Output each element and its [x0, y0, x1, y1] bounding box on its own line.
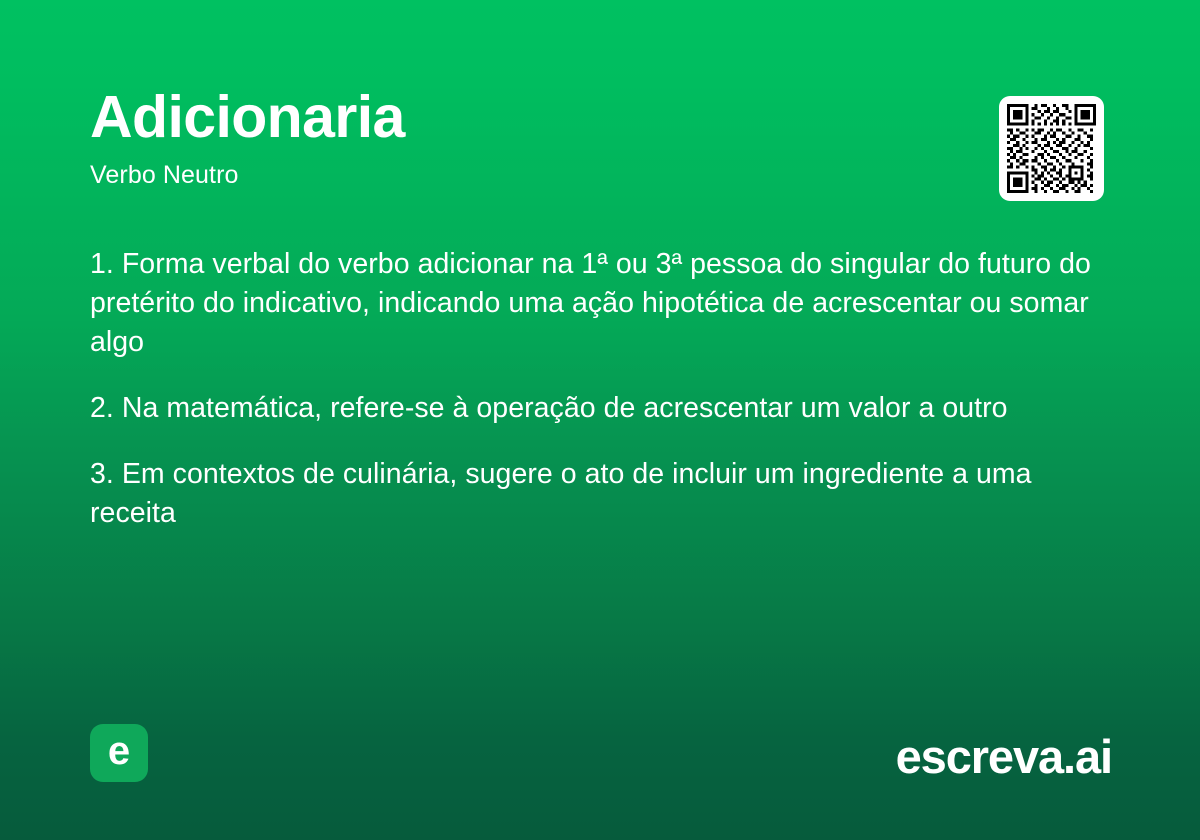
word-class-label: Verbo Neutro [90, 160, 970, 190]
qr-code-icon[interactable] [999, 96, 1104, 201]
definition-card: Adicionaria Verbo Neutro [0, 0, 1200, 840]
definition-list: 1. Forma verbal do verbo adicionar na 1ª… [90, 245, 1110, 533]
logo-letter: e [108, 731, 130, 771]
card-header: Adicionaria Verbo Neutro [90, 86, 970, 190]
brand-wordmark: escreva.ai [896, 733, 1112, 780]
word-title: Adicionaria [90, 86, 970, 149]
escreva-logo-icon: e [90, 724, 148, 782]
definition-item: 3. Em contextos de culinária, sugere o a… [90, 455, 1110, 533]
definition-item: 2. Na matemática, refere-se à operação d… [90, 389, 1110, 428]
definition-item: 1. Forma verbal do verbo adicionar na 1ª… [90, 245, 1110, 362]
